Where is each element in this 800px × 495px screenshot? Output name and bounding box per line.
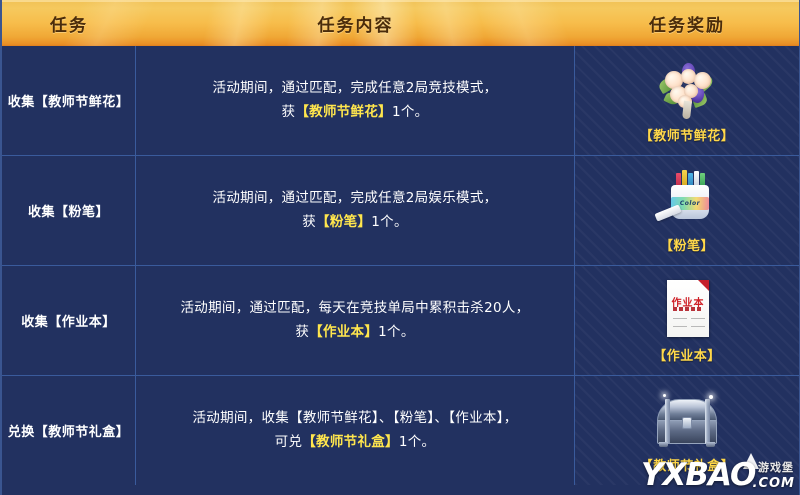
task-name: 兑换【教师节礼盒】: [8, 421, 130, 440]
description-line-1: 活动期间，通过匹配，完成任意2局娱乐模式，: [213, 190, 498, 206]
content-cell: 活动期间，收集【教师节鲜花】、【粉笔】、【作业本】， 可兑【教师节礼盒】1个。: [136, 376, 575, 485]
task-description: 活动期间，通过匹配，每天在竞技单局中累积击杀20人， 获【作业本】1个。: [181, 297, 530, 344]
header-label-task: 任务: [50, 11, 88, 36]
reward-cell: 作业本 【作业本】: [575, 266, 799, 375]
task-cell: 收集【教师节鲜花】: [2, 46, 136, 155]
reward-cell: 【教师节礼盒】: [575, 376, 799, 485]
table-row: 收集【作业本】 活动期间，通过匹配，每天在竞技单局中累积击杀20人， 获【作业本…: [2, 266, 799, 376]
chalk-bucket-icon: Color CHALK: [649, 167, 725, 231]
reward-label: 【粉笔】: [660, 235, 714, 254]
description-prefix: 获: [295, 324, 309, 340]
task-description: 活动期间，通过匹配，完成任意2局竞技模式， 获【教师节鲜花】1个。: [213, 77, 498, 124]
reward-label: 【教师节礼盒】: [640, 455, 735, 474]
header-label-content: 任务内容: [318, 11, 394, 36]
description-line-1: 活动期间，通过匹配，完成任意2局竞技模式，: [213, 80, 498, 96]
header-cell-content: 任务内容: [136, 0, 575, 46]
notebook-icon: 作业本: [649, 277, 725, 341]
description-highlight: 【教师节鲜花】: [295, 104, 392, 120]
task-cell: 收集【粉笔】: [2, 156, 136, 265]
description-prefix: 获: [282, 104, 296, 120]
reward-cell: 【教师节鲜花】: [575, 46, 799, 155]
content-cell: 活动期间，通过匹配，完成任意2局娱乐模式， 获【粉笔】1个。: [136, 156, 575, 265]
description-line-1: 活动期间，通过匹配，每天在竞技单局中累积击杀20人，: [181, 300, 530, 316]
task-name: 收集【教师节鲜花】: [8, 91, 130, 110]
table-row: 收集【教师节鲜花】 活动期间，通过匹配，完成任意2局竞技模式， 获【教师节鲜花】…: [2, 46, 799, 156]
table-body: 收集【教师节鲜花】 活动期间，通过匹配，完成任意2局竞技模式， 获【教师节鲜花】…: [2, 46, 799, 495]
description-line-1: 活动期间，收集【教师节鲜花】、【粉笔】、【作业本】，: [192, 410, 517, 426]
description-suffix: 1个。: [371, 214, 408, 230]
description-prefix: 可兑: [275, 434, 303, 450]
task-description: 活动期间，收集【教师节鲜花】、【粉笔】、【作业本】， 可兑【教师节礼盒】1个。: [192, 407, 517, 454]
description-highlight: 【粉笔】: [316, 214, 371, 230]
reward-cell: Color CHALK 【粉笔】: [575, 156, 799, 265]
task-name: 收集【粉笔】: [28, 201, 109, 220]
description-suffix: 1个。: [399, 434, 436, 450]
description-suffix: 1个。: [392, 104, 429, 120]
table-header-row: 任务 任务内容 任务奖励: [2, 0, 799, 46]
treasure-chest-icon: [649, 387, 725, 451]
content-cell: 活动期间，通过匹配，每天在竞技单局中累积击杀20人， 获【作业本】1个。: [136, 266, 575, 375]
task-description: 活动期间，通过匹配，完成任意2局娱乐模式， 获【粉笔】1个。: [213, 187, 498, 234]
description-prefix: 获: [302, 214, 316, 230]
reward-label: 【教师节鲜花】: [640, 125, 735, 144]
description-suffix: 1个。: [378, 324, 415, 340]
task-cell: 收集【作业本】: [2, 266, 136, 375]
table-row: 收集【粉笔】 活动期间，通过匹配，完成任意2局娱乐模式， 获【粉笔】1个。: [2, 156, 799, 266]
bouquet-icon: [649, 57, 725, 121]
content-cell: 活动期间，通过匹配，完成任意2局竞技模式， 获【教师节鲜花】1个。: [136, 46, 575, 155]
header-cell-task: 任务: [2, 0, 136, 46]
task-cell: 兑换【教师节礼盒】: [2, 376, 136, 485]
notebook-corner: [698, 280, 709, 291]
header-cell-reward: 任务奖励: [575, 0, 799, 46]
description-highlight: 【教师节礼盒】: [302, 434, 399, 450]
task-reward-table: 任务 任务内容 任务奖励 收集【教师节鲜花】 活动期间，通过匹配，完成任意2局竞…: [0, 0, 800, 495]
reward-label: 【作业本】: [653, 345, 721, 364]
table-row: 兑换【教师节礼盒】 活动期间，收集【教师节鲜花】、【粉笔】、【作业本】， 可兑【…: [2, 376, 799, 485]
header-label-reward: 任务奖励: [649, 11, 725, 36]
task-name: 收集【作业本】: [21, 311, 116, 330]
description-highlight: 【作业本】: [309, 324, 378, 340]
